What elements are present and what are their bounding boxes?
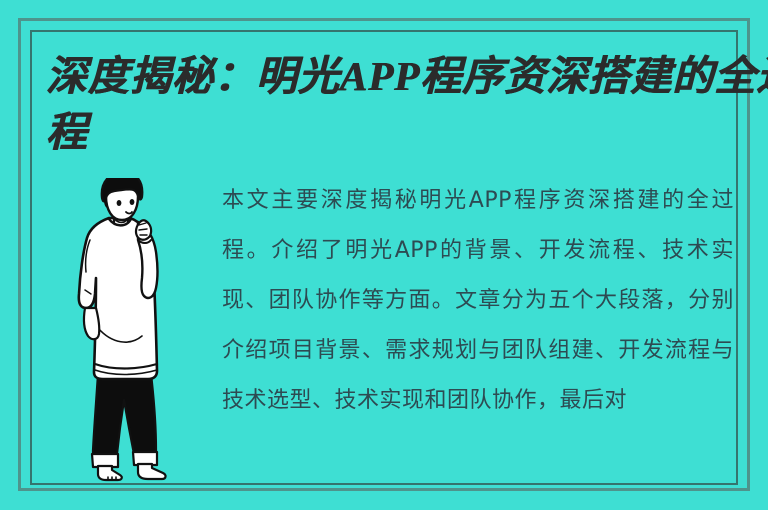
left-eye [117,200,122,206]
right-foot [138,464,166,479]
person-line-art-svg [72,178,200,486]
article-summary: 本文主要深度揭秘明光APP程序资深搭建的全过程。介绍了明光APP的背景、开发流程… [222,176,734,426]
right-eye [130,199,135,205]
article-cover-card: 深度揭秘：明光APP程序资深搭建的全过程 本文主要深度揭秘明光APP程序资深搭建… [0,0,768,510]
left-foot [98,466,122,480]
trousers-shape [93,374,156,454]
standing-young-man-illustration [72,178,200,486]
page-title: 深度揭秘：明光APP程序资深搭建的全过程 [46,48,768,160]
left-hand-in-pocket [84,308,99,339]
